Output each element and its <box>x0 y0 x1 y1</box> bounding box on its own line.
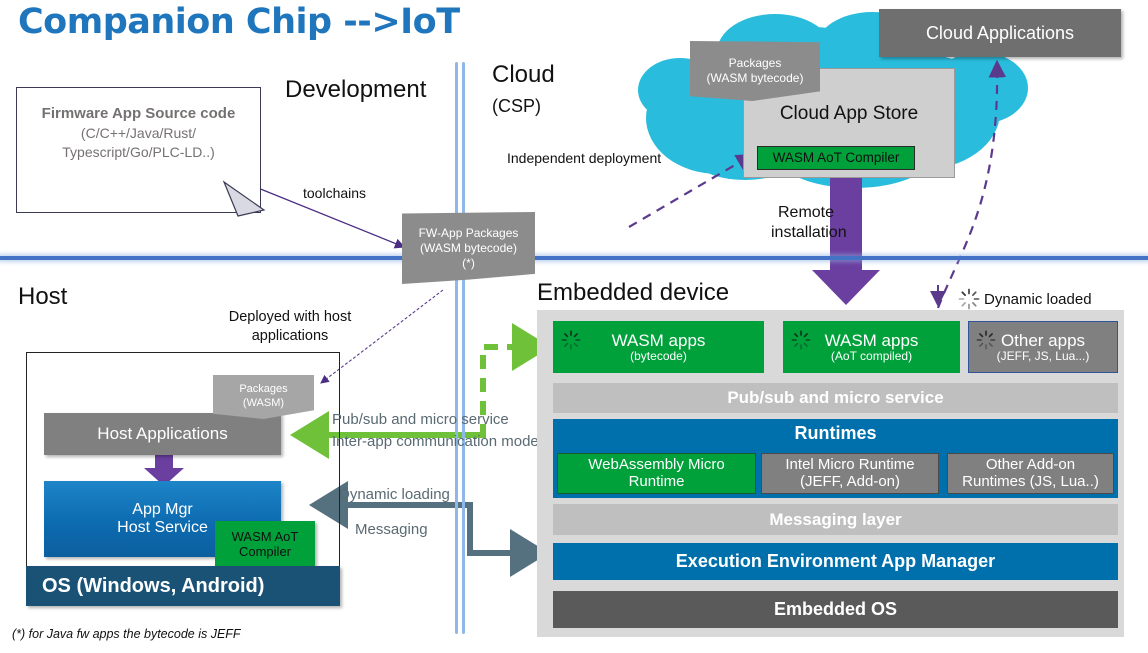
deployed-with-host-line1: Deployed with host <box>222 308 358 327</box>
host-packages-callout: Packages (WASM) <box>213 375 314 419</box>
page-title: Companion Chip -->IoT <box>18 2 460 42</box>
spinner-icon-app-1 <box>791 330 811 350</box>
deployed-with-host-line2: applications <box>222 327 358 346</box>
host-aot-line2: Compiler <box>239 545 291 560</box>
messaging-steel-arrow-right <box>318 505 540 553</box>
embedded-runtimes-title: Runtimes <box>794 423 876 443</box>
section-title-development: Development <box>285 76 426 104</box>
fw-packages-line1: FW-App Packages <box>419 226 519 241</box>
remote-installation-line1: Remote <box>771 203 841 223</box>
firmware-source-title: Firmware App Source code <box>42 104 236 124</box>
app-mgr-line1: App Mgr <box>132 501 192 519</box>
embedded-app-1-name: WASM apps <box>825 331 919 350</box>
diagram-canvas: Companion Chip -->IoT <box>0 0 1148 653</box>
spinner-icon-app-0 <box>561 330 581 350</box>
cloud-packages-line2: (WASM bytecode) <box>707 71 804 86</box>
embedded-app-1-sub: (AoT compiled) <box>831 350 912 363</box>
cloud-wasm-aot-compiler-box: WASM AoT Compiler <box>757 146 915 170</box>
embedded-pubsub-bar: Pub/sub and micro service <box>553 383 1118 413</box>
host-applications-label: Host Applications <box>97 424 227 443</box>
fw-app-packages-callout: FW-App Packages (WASM bytecode) (*) <box>402 212 535 284</box>
host-wasm-aot-compiler-box: WASM AoT Compiler <box>215 521 315 568</box>
embedded-pubsub-label: Pub/sub and micro service <box>727 388 943 407</box>
host-packages-line2: (WASM) <box>243 397 284 411</box>
embedded-runtime-1-l1: Intel Micro Runtime <box>785 457 914 474</box>
embedded-runtime-0-l2: Runtime <box>629 474 685 491</box>
firmware-source-line3: Typescript/Go/PLC-LD..) <box>62 143 215 162</box>
embedded-app-0: WASM apps (bytecode) <box>553 321 764 373</box>
remote-installation-line2: installation <box>771 223 841 243</box>
fw-packages-line2: (WASM bytecode) <box>420 241 517 256</box>
spinner-icon-app-2 <box>976 330 996 350</box>
cloud-applications-label: Cloud Applications <box>926 23 1074 43</box>
embedded-app-manager-bar: Execution Environment App Manager <box>553 543 1118 580</box>
label-dynamic-loading: Dynamic loading <box>339 486 450 503</box>
dynamic-loaded-spinner-icon <box>958 288 980 310</box>
horizontal-divider <box>0 256 1148 260</box>
embedded-app-2-name: Other apps <box>1001 331 1085 350</box>
label-inter-app-comm: Inter-app communication models <box>332 433 550 450</box>
cloud-packages-callout: Packages (WASM bytecode) <box>690 41 820 101</box>
host-packages-line1: Packages <box>239 383 287 397</box>
embedded-runtime-2-l1: Other Add-on <box>986 457 1075 474</box>
embedded-runtime-2-l2: Runtimes (JS, Lua..) <box>962 474 1099 491</box>
fw-packages-line3: (*) <box>462 256 475 271</box>
cloud-app-store-title: Cloud App Store <box>780 103 918 124</box>
cloud-applications-box: Cloud Applications <box>879 9 1121 57</box>
embedded-app-2-sub: (JEFF, JS, Lua...) <box>997 350 1090 363</box>
label-pubsub-micro-service: Pub/sub and micro service <box>332 411 509 428</box>
embedded-runtime-1: Intel Micro Runtime (JEFF, Add-on) <box>761 453 939 494</box>
callout-fold-icon <box>222 180 270 220</box>
embedded-runtime-2: Other Add-on Runtimes (JS, Lua..) <box>947 453 1114 494</box>
label-dynamic-loaded: Dynamic loaded <box>984 291 1092 308</box>
app-mgr-line2: Host Service <box>117 519 208 537</box>
embedded-os-bar: Embedded OS <box>553 591 1118 628</box>
section-title-cloud: Cloud <box>492 61 555 89</box>
label-remote-installation: Remote installation <box>771 203 841 243</box>
embedded-app-0-sub: (bytecode) <box>630 350 687 363</box>
embedded-messaging-layer-bar: Messaging layer <box>553 504 1118 535</box>
label-toolchains: toolchains <box>303 185 366 201</box>
embedded-app-manager-label: Execution Environment App Manager <box>676 551 995 571</box>
cloud-aot-compiler-label: WASM AoT Compiler <box>773 150 900 165</box>
host-os-box: OS (Windows, Android) <box>26 566 340 606</box>
host-aot-line1: WASM AoT <box>232 530 299 545</box>
host-applications-box: Host Applications <box>44 413 281 455</box>
footnote: (*) for Java fw apps the bytecode is JEF… <box>12 627 241 641</box>
embedded-os-label: Embedded OS <box>774 599 897 619</box>
firmware-source-line2: (C/C++/Java/Rust/ <box>81 124 196 143</box>
embedded-messaging-layer-label: Messaging layer <box>769 510 901 529</box>
embedded-runtime-1-l2: (JEFF, Add-on) <box>800 474 900 491</box>
label-independent-deployment: Independent deployment <box>507 150 661 166</box>
section-subtitle-csp: (CSP) <box>492 96 541 117</box>
embedded-runtime-0: WebAssembly Micro Runtime <box>557 453 756 494</box>
section-title-host: Host <box>18 283 67 311</box>
cloud-packages-line1: Packages <box>729 56 782 71</box>
vertical-divider <box>455 62 467 634</box>
section-title-embedded-device: Embedded device <box>537 279 729 307</box>
embedded-app-0-name: WASM apps <box>612 331 706 350</box>
embedded-runtime-0-l1: WebAssembly Micro <box>588 457 724 474</box>
host-os-label: OS (Windows, Android) <box>42 575 264 597</box>
label-deployed-with-host: Deployed with host applications <box>222 308 358 346</box>
label-messaging: Messaging <box>355 521 428 538</box>
